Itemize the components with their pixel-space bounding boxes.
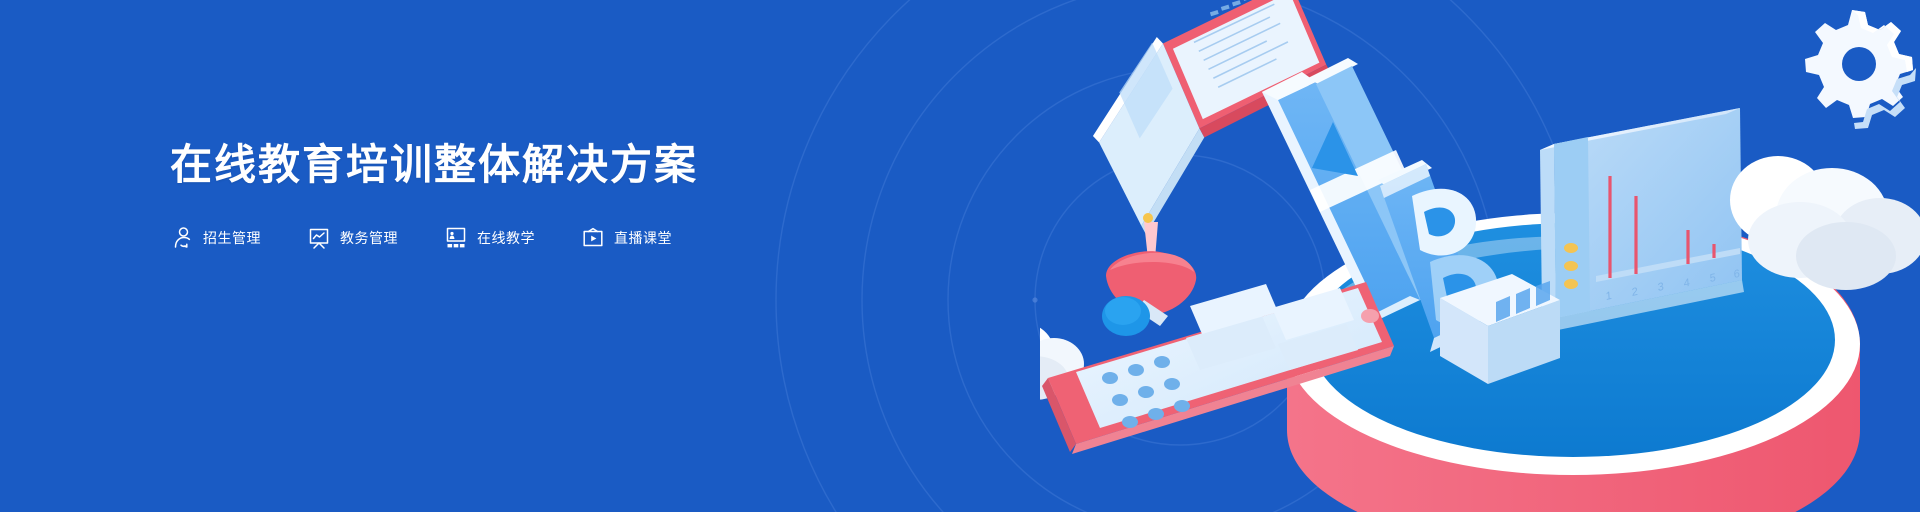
svg-text:6: 6	[1733, 268, 1740, 281]
feature-item-online-teaching[interactable]: 在线教学	[444, 226, 535, 250]
svg-text:5: 5	[1709, 272, 1716, 285]
whiteboard-class-icon	[444, 226, 468, 250]
svg-text:2: 2	[1631, 286, 1638, 299]
illustration: 1 2 3 4 5 6	[1040, 0, 1920, 512]
tv-play-icon	[581, 226, 605, 250]
feature-list: 招生管理 教务管理	[170, 226, 930, 250]
page-title: 在线教育培训整体解决方案	[170, 140, 930, 190]
hero-text-block: 在线教育培训整体解决方案 招生管理 教务管理	[170, 140, 930, 250]
feature-label: 直播课堂	[614, 228, 672, 248]
feature-label: 招生管理	[203, 228, 261, 248]
feature-label: 在线教学	[477, 228, 535, 248]
monitor-bar-chart: 1 2 3 4 5 6	[1540, 108, 1744, 330]
feature-label: 教务管理	[340, 228, 398, 248]
svg-text:4: 4	[1683, 277, 1690, 290]
gear-icon	[1805, 10, 1916, 129]
user-add-icon	[170, 226, 194, 250]
svg-text:3: 3	[1657, 281, 1664, 294]
spinning-top	[1102, 213, 1196, 336]
education-hero-banner: 1 2 3 4 5 6	[0, 0, 1920, 512]
feature-item-admissions[interactable]: 招生管理	[170, 226, 261, 250]
window-dots	[1564, 243, 1578, 289]
chart-board-icon	[307, 226, 331, 250]
feature-item-academic-affairs[interactable]: 教务管理	[307, 226, 398, 250]
svg-text:1: 1	[1605, 290, 1612, 303]
feature-item-live-classroom[interactable]: 直播课堂	[581, 226, 672, 250]
